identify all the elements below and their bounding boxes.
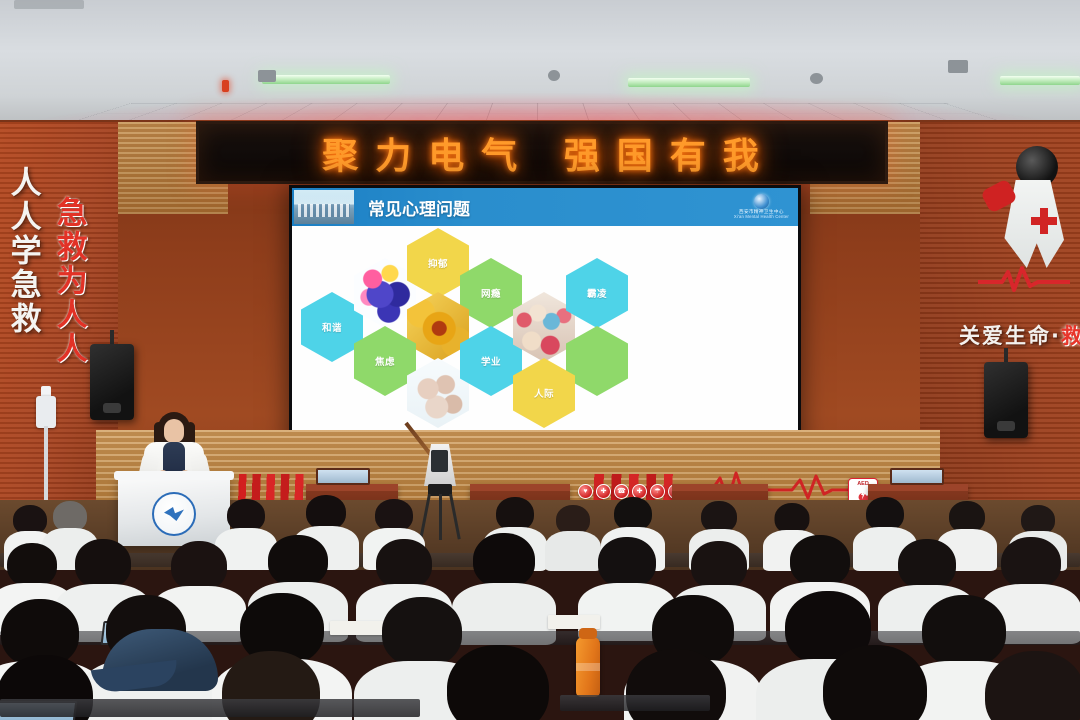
ceiling	[0, 0, 1080, 128]
projection-screen: 常见心理问题 西安市精神卫生中心 Xi'an Mental Health Cen…	[289, 185, 801, 453]
cap-brim	[91, 660, 179, 694]
hex-cell-photo-balloons	[354, 258, 416, 328]
first-aid-medic-icon	[976, 146, 1072, 296]
ceiling-light-panel	[628, 78, 750, 87]
lecture-hall-photo: 聚力电气 强国有我 人人学急救 急救为人人 关爱生命·救 常见心理问题	[0, 0, 1080, 720]
table-monitor	[316, 468, 370, 485]
slide-header: 常见心理问题 西安市精神卫生中心 Xi'an Mental Health Cen…	[292, 188, 798, 226]
audience-person	[958, 651, 1080, 720]
desk-row	[560, 695, 710, 711]
hex-cell: 焦虑	[354, 326, 416, 396]
audience-person	[420, 645, 576, 720]
wall-slogan-prefix: 关爱生命·	[959, 324, 1061, 348]
water-bottle[interactable]	[576, 637, 600, 697]
wall-text-left-inner: 急救为人人	[52, 196, 84, 366]
logo-mark-icon	[754, 194, 769, 209]
presentation-slide: 常见心理问题 西安市精神卫生中心 Xi'an Mental Health Cen…	[292, 188, 798, 450]
hex-label: 霸凌	[587, 286, 607, 300]
ceiling-light-panel	[1000, 76, 1080, 85]
led-banner-text: 聚力电气 强国有我	[322, 127, 776, 179]
logo-name-en: Xi'an Mental Health Center	[734, 215, 789, 219]
hex-cell: 学业	[460, 326, 522, 396]
table-monitor	[890, 468, 944, 485]
ecg-line-icon	[976, 264, 1072, 292]
hex-label: 人际	[534, 386, 554, 400]
hex-cell: 网瘾	[460, 258, 522, 328]
pa-speaker-left	[90, 344, 134, 420]
bottle-cap	[579, 628, 597, 639]
ceiling-speaker	[810, 73, 823, 84]
hex-cell-photo-hands	[407, 358, 469, 428]
wall-slogan-highlight: 救	[1061, 324, 1080, 348]
ceiling-sensor	[14, 0, 84, 9]
hex-cell: 人际	[513, 358, 575, 428]
ceiling-speaker	[548, 70, 560, 81]
hex-label: 抑郁	[428, 256, 448, 270]
wall-slogan-right: 关爱生命·救	[959, 320, 1080, 350]
ceiling-light-panel	[262, 75, 390, 84]
led-banner: 聚力电气 强国有我	[196, 121, 888, 184]
hex-label: 网瘾	[481, 286, 501, 300]
audience-person	[796, 645, 954, 720]
pa-speaker-right	[984, 362, 1028, 438]
camera-screen	[431, 450, 448, 472]
desk-row	[0, 699, 420, 717]
hex-cell: 霸凌	[566, 258, 628, 328]
slide-header-photo	[294, 190, 354, 224]
hexagon-diagram: 和谐 抑郁 网瘾 焦虑 学业 霸凌 人际	[292, 226, 798, 437]
hex-label: 焦虑	[375, 354, 395, 368]
hex-cell: 和谐	[301, 292, 363, 362]
ceiling-vent	[258, 70, 276, 82]
hex-label: 和谐	[322, 320, 342, 334]
hex-cell: 抑郁	[407, 228, 469, 298]
fire-alarm-icon	[222, 80, 229, 92]
organization-logo: 西安市精神卫生中心 Xi'an Mental Health Center	[734, 194, 789, 219]
hex-cell-photo-crowd	[513, 292, 575, 362]
handout-paper	[548, 615, 600, 629]
ceiling-projector	[948, 60, 968, 73]
hex-cell-photo-sunflower	[407, 292, 469, 362]
slide-title: 常见心理问题	[368, 195, 470, 220]
hex-cell	[566, 326, 628, 396]
bottle-label	[576, 663, 600, 671]
hex-label: 学业	[481, 354, 501, 368]
wall-text-left-outer: 人人学急救	[6, 166, 38, 336]
audience	[0, 495, 1080, 720]
